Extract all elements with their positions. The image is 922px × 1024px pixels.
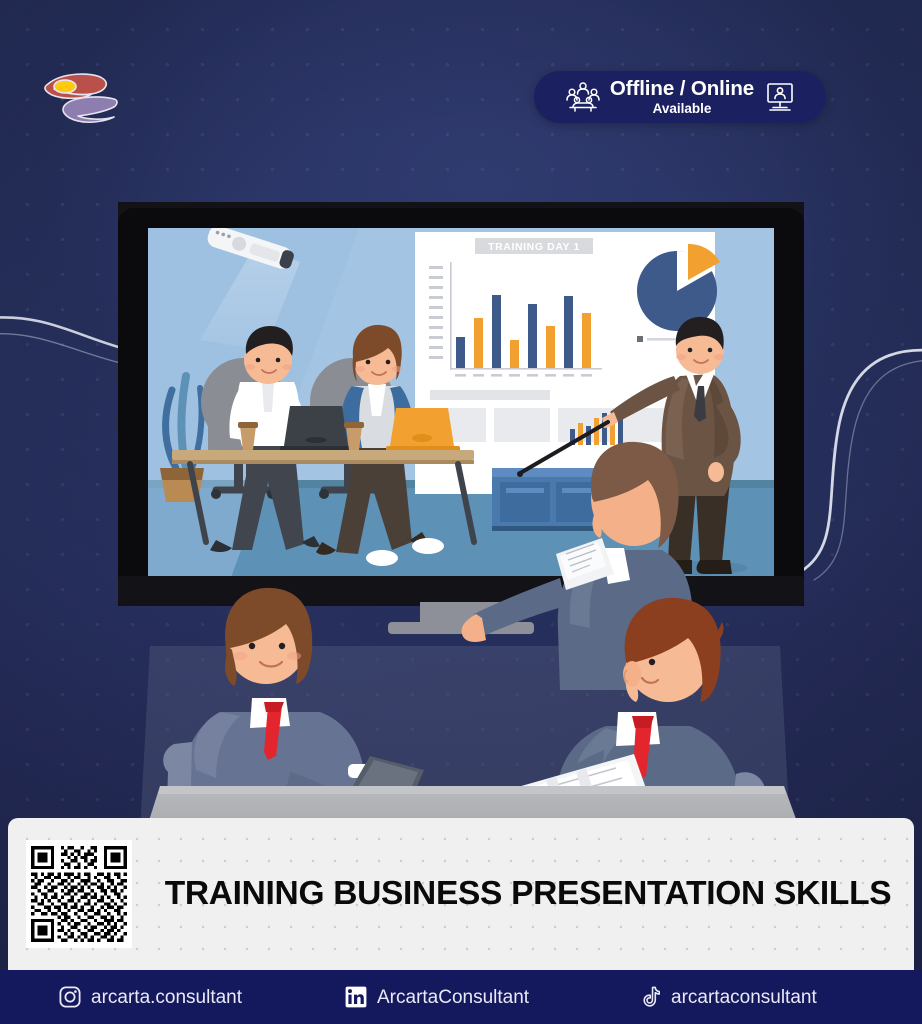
training-illustration: TRAINING DAY 1	[0, 150, 922, 830]
social-handle-tiktok: arcartaconsultant	[671, 988, 817, 1007]
badge-text-block: Offline / Online Available	[610, 79, 754, 116]
qr-code[interactable]	[26, 840, 132, 948]
page-title: TRAINING BUSINESS PRESENTATION SKILLS	[158, 844, 898, 944]
brand-logo	[40, 62, 122, 132]
tiktok-icon	[638, 985, 662, 1009]
instagram-icon	[58, 985, 82, 1009]
social-bar: arcarta.consultant ArcartaConsultant arc…	[0, 970, 922, 1024]
online-monitor-person-icon	[764, 82, 796, 112]
svg-text:TRAINING DAY 1: TRAINING DAY 1	[488, 241, 580, 253]
social-item-tiktok[interactable]: arcartaconsultant	[638, 985, 817, 1009]
qr-code-image	[31, 845, 127, 943]
availability-badge[interactable]: Offline / Online Available	[534, 71, 826, 123]
group-meeting-icon	[564, 80, 602, 114]
social-handle-linkedin: ArcartaConsultant	[377, 988, 529, 1007]
social-handle-instagram: arcarta.consultant	[91, 988, 242, 1007]
linkedin-icon	[344, 985, 368, 1009]
bottom-info-card: TRAINING BUSINESS PRESENTATION SKILLS	[8, 818, 914, 970]
badge-subtitle: Available	[610, 102, 754, 116]
social-item-linkedin[interactable]: ArcartaConsultant	[344, 985, 529, 1009]
social-item-instagram[interactable]: arcarta.consultant	[58, 985, 242, 1009]
badge-title: Offline / Online	[610, 79, 754, 100]
poster-root: Offline / Online Available	[0, 0, 922, 1024]
